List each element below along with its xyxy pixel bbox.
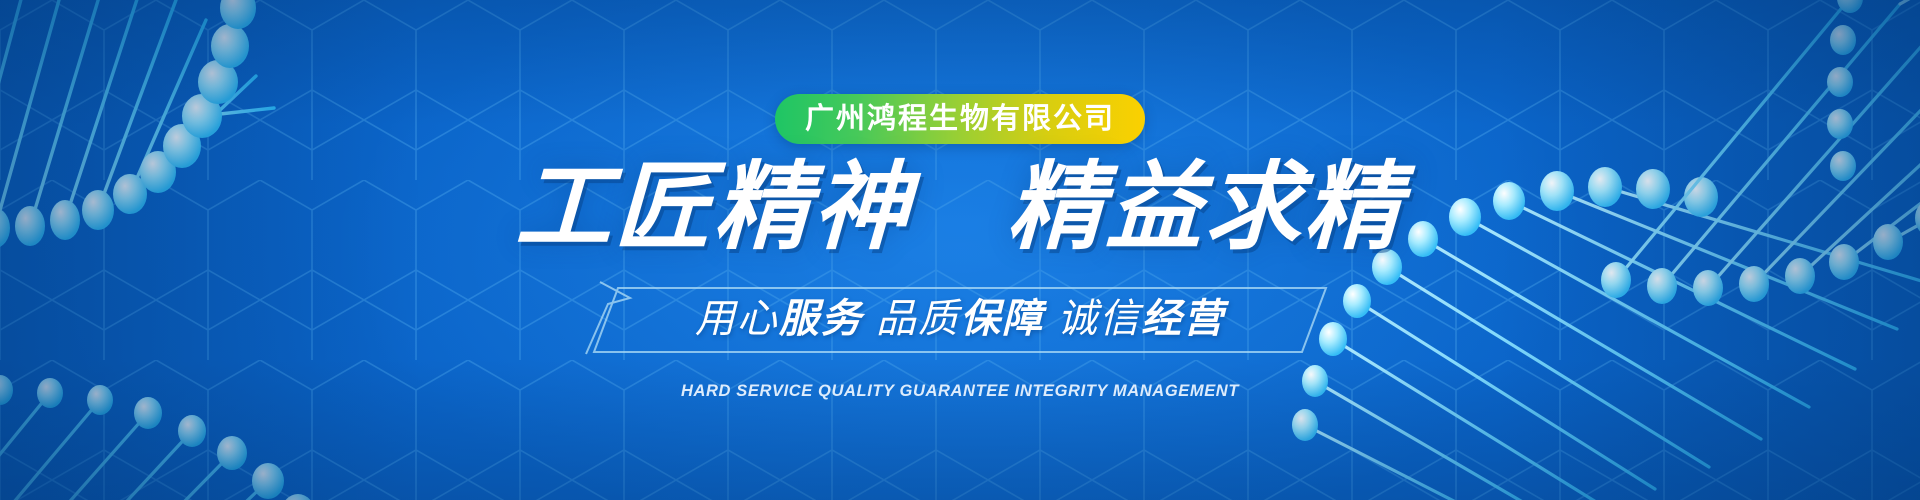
banner-content: 广州鸿程生物有限公司 工匠精神 精益求精 用心服务 品质保障 诚信经营 HARD… <box>0 0 1920 500</box>
subtitle-part-4: 诚信 <box>1057 297 1141 341</box>
subtitle-part-1: 服务 <box>779 297 863 341</box>
subtitle-part-2: 品质 <box>876 297 960 341</box>
headline-left-text: 工匠精神 <box>514 154 914 261</box>
subtitle-part-3: 保障 <box>960 297 1044 341</box>
subtitle-frame: 用心服务 品质保障 诚信经营 <box>590 282 1330 356</box>
subtitle-text: 用心服务 品质保障 诚信经营 <box>695 299 1225 339</box>
subtitle-part-0: 用心 <box>695 297 779 341</box>
page-title: 工匠精神 精益求精 <box>515 160 1406 256</box>
company-name-badge: 广州鸿程生物有限公司 <box>775 94 1145 144</box>
company-name-text: 广州鸿程生物有限公司 <box>805 105 1115 134</box>
promo-banner: 广州鸿程生物有限公司 工匠精神 精益求精 用心服务 品质保障 诚信经营 HARD… <box>0 0 1920 500</box>
subtitle-part-5: 经营 <box>1141 297 1225 341</box>
english-tagline: HARD SERVICE QUALITY GUARANTEE INTEGRITY… <box>681 382 1239 401</box>
headline-right-text: 精益求精 <box>1006 154 1406 261</box>
